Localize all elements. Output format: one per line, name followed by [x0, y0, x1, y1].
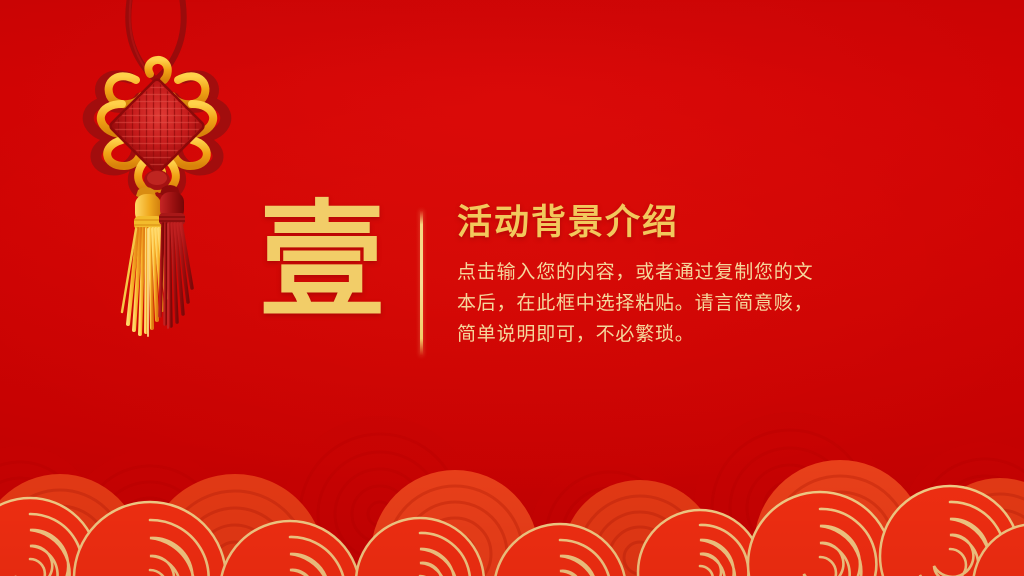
body-line: 点击输入您的内容，或者通过复制您的文: [457, 257, 912, 288]
section-heading: 活动背景介绍: [457, 204, 912, 243]
auspicious-cloud-pattern: [0, 386, 1024, 576]
knot-cord: [128, 0, 183, 80]
tassel-red: [159, 185, 192, 328]
text-block: 活动背景介绍 点击输入您的内容，或者通过复制您的文 本后，在此框中选择粘贴。请言…: [457, 196, 912, 350]
slide-canvas: 壹 活动背景介绍 点击输入您的内容，或者通过复制您的文 本后，在此框中选择粘贴。…: [0, 0, 1024, 576]
vertical-gold-rule: [420, 210, 423, 356]
section-numeral: 壹: [252, 198, 392, 327]
knot-center: [109, 78, 205, 174]
body-line: 本后，在此框中选择粘贴。请言简意赅，: [457, 288, 912, 319]
body-line: 简单说明即可，不必繁琐。: [457, 319, 912, 350]
chinese-knot-ornament: [78, 0, 238, 354]
section-content: 壹 活动背景介绍 点击输入您的内容，或者通过复制您的文 本后，在此框中选择粘贴。…: [252, 196, 912, 386]
